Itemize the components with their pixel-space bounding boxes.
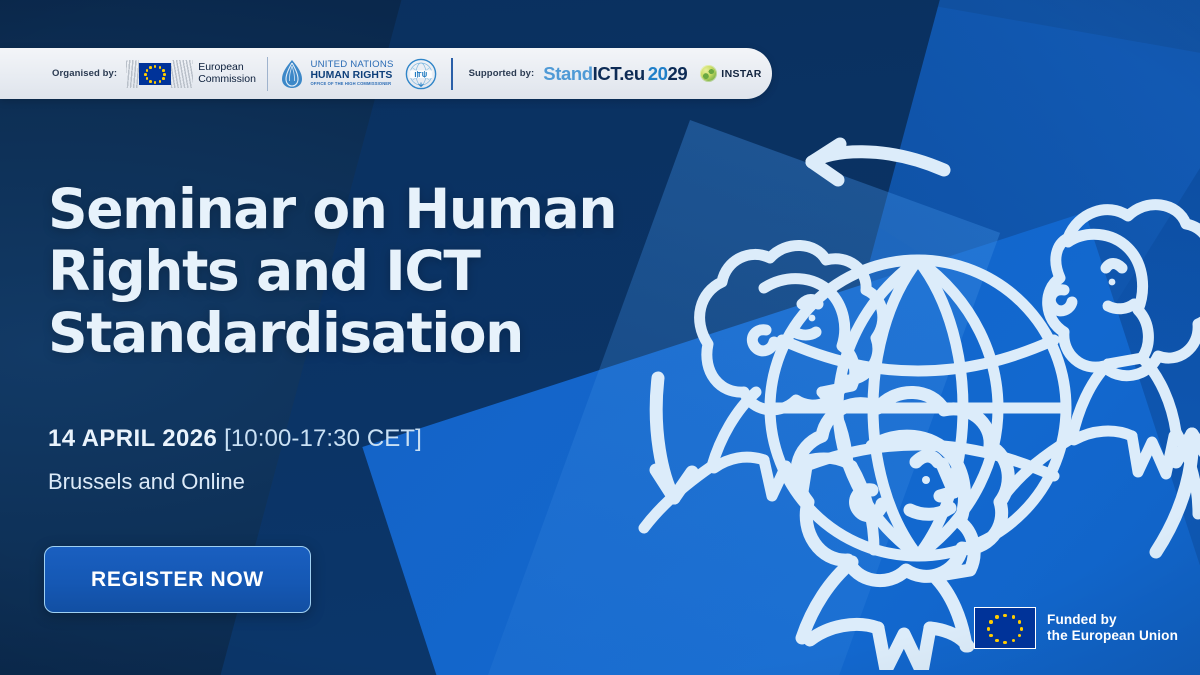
standict-part3: 20 [648,63,668,85]
eu-funding-badge: Funded by the European Union [974,607,1178,649]
un-flame-icon [279,59,305,89]
eu-flag-funded-icon [974,607,1036,649]
ec-wordmark: European Commission [198,62,256,85]
un-line1: UNITED NATIONS [310,60,393,70]
standict-part2: ICT.eu [593,63,645,85]
standict-part1: Stand [543,63,592,85]
divider-2 [451,58,453,90]
event-date-time: 14 APRIL 2026 [10:00-17:30 CET] [48,424,422,454]
event-meta: 14 APRIL 2026 [10:00-17:30 CET] Brussels… [48,424,422,496]
promo-banner: Organised by: [0,0,1200,675]
partner-logo-bar: Organised by: [0,48,772,99]
ec-fan-right-icon [171,60,193,88]
un-wordmark: UNITED NATIONS HUMAN RIGHTS OFFICE OF TH… [310,60,393,88]
event-date: 14 APRIL 2026 [48,425,217,452]
organised-by-label: Organised by: [52,68,117,79]
funding-line2: the European Union [1047,628,1178,645]
european-commission-logo: European Commission [126,60,256,88]
register-now-button[interactable]: REGISTER NOW [44,546,311,613]
ec-fan-left-icon [126,60,139,88]
ec-line2: Commission [198,74,256,86]
itu-label: ITU [414,69,427,78]
ec-line1: European [198,62,256,74]
itu-logo-svg: ITU [405,58,437,90]
un-line3: OFFICE OF THE HIGH COMMISSIONER [310,81,393,87]
instar-globe-icon [700,65,717,82]
instar-logo: INSTAR [700,65,761,82]
event-time: [10:00-17:30 CET] [224,425,422,452]
ec-emblem [126,60,193,88]
eu-funding-text: Funded by the European Union [1047,612,1178,645]
standict-logo: StandICT.eu2029 [543,63,687,85]
event-location: Brussels and Online [48,468,422,496]
standict-part4: 29 [668,63,688,85]
itu-logo: ITU [405,58,437,90]
un-human-rights-logo: UNITED NATIONS HUMAN RIGHTS OFFICE OF TH… [279,59,393,89]
eu-flag-icon [139,63,171,85]
divider-1 [267,57,269,91]
page-title: Seminar on Human Rights and ICT Standard… [48,178,648,364]
un-flame-svg [279,59,305,89]
supported-by-label: Supported by: [469,68,535,79]
funding-line1: Funded by [1047,612,1178,629]
instar-label: INSTAR [721,68,761,80]
hero-content: Seminar on Human Rights and ICT Standard… [48,178,648,364]
un-line2: HUMAN RIGHTS [310,70,393,81]
